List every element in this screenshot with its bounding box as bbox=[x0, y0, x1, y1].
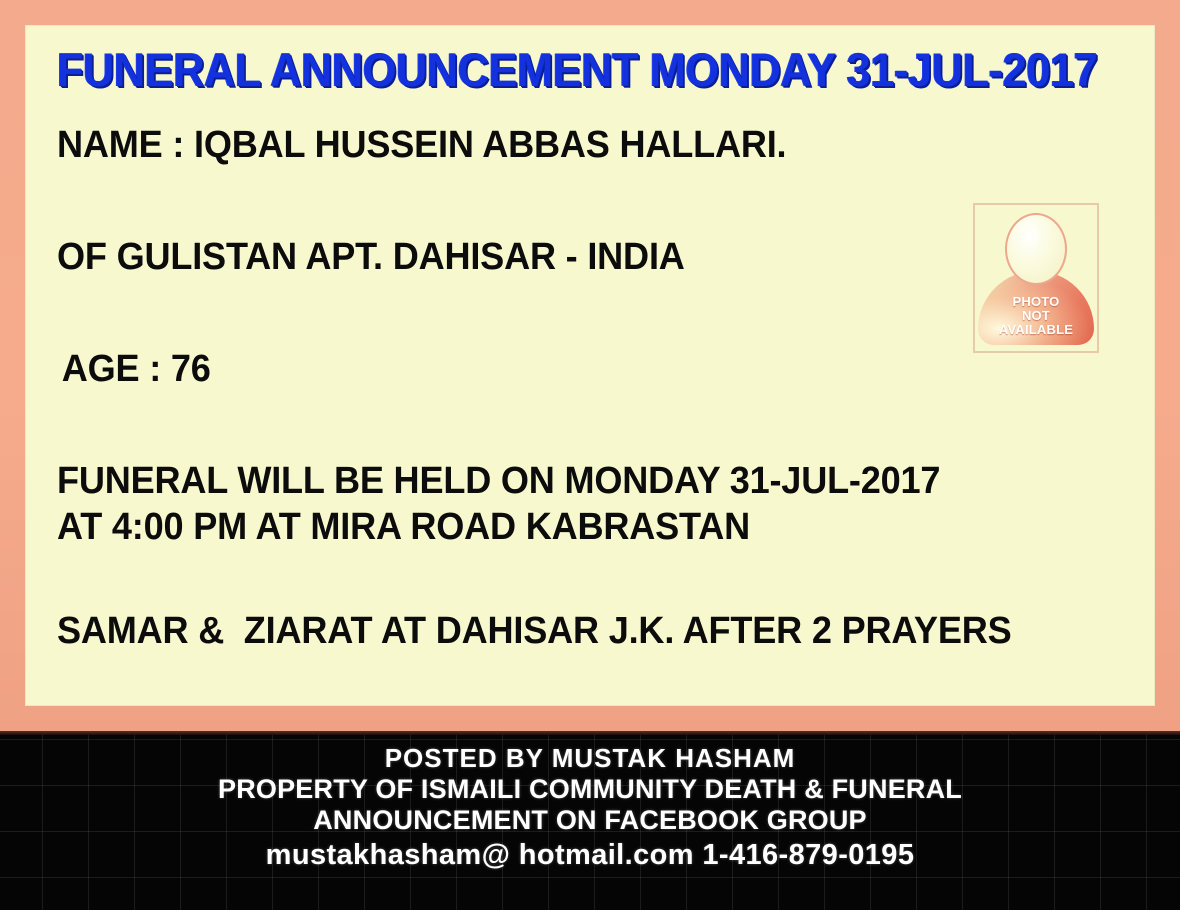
footer-contact-line: mustakhasham@ hotmail.com 1-416-879-0195 bbox=[0, 840, 1180, 871]
funeral-details-line-1: FUNERAL WILL BE HELD ON MONDAY 31-JUL-20… bbox=[57, 458, 1064, 504]
photo-placeholder-label-line-1: PHOTO bbox=[975, 295, 1097, 309]
funeral-details-line-2: AT 4:00 PM AT MIRA ROAD KABRASTAN bbox=[57, 504, 1064, 550]
announcement-body: NAME : IQBAL HUSSEIN ABBAS HALLARI. OF G… bbox=[57, 122, 1117, 654]
photo-not-available-box: PHOTO NOT AVAILABLE bbox=[973, 203, 1099, 353]
poster-outer-frame: FUNERAL ANNOUNCEMENT MONDAY 31-JUL-2017 … bbox=[0, 0, 1180, 731]
poster-footer: POSTED BY MUSTAK HASHAM PROPERTY OF ISMA… bbox=[0, 731, 1180, 910]
footer-property-line: PROPERTY OF ISMAILI COMMUNITY DEATH & FU… bbox=[0, 774, 1180, 805]
samar-ziarat-line: SAMAR & ZIARAT AT DAHISAR J.K. AFTER 2 P… bbox=[57, 608, 1064, 654]
photo-placeholder-label-line-2: NOT bbox=[975, 309, 1097, 323]
spacer-after-name bbox=[57, 168, 1117, 234]
footer-group-line: ANNOUNCEMENT ON FACEBOOK GROUP bbox=[0, 805, 1180, 836]
funeral-announcement-poster: FUNERAL ANNOUNCEMENT MONDAY 31-JUL-2017 … bbox=[0, 0, 1180, 910]
footer-posted-by: POSTED BY MUSTAK HASHAM bbox=[0, 743, 1180, 774]
spacer-after-funeral-details bbox=[57, 550, 1117, 608]
deceased-age-line: AGE : 76 bbox=[57, 346, 1064, 392]
footer-credit-block: POSTED BY MUSTAK HASHAM PROPERTY OF ISMA… bbox=[0, 743, 1180, 871]
spacer-after-age bbox=[57, 392, 1117, 458]
person-head-icon bbox=[1005, 213, 1067, 285]
announcement-panel: FUNERAL ANNOUNCEMENT MONDAY 31-JUL-2017 … bbox=[26, 26, 1154, 705]
deceased-name-line: NAME : IQBAL HUSSEIN ABBAS HALLARI. bbox=[57, 122, 1064, 168]
photo-placeholder-label: PHOTO NOT AVAILABLE bbox=[975, 295, 1097, 337]
spacer-after-address bbox=[57, 280, 1117, 346]
page-title: FUNERAL ANNOUNCEMENT MONDAY 31-JUL-2017 bbox=[57, 42, 1041, 98]
deceased-address-line: OF GULISTAN APT. DAHISAR - INDIA bbox=[57, 234, 1064, 280]
photo-placeholder-icon: PHOTO NOT AVAILABLE bbox=[975, 205, 1097, 351]
photo-placeholder-label-line-3: AVAILABLE bbox=[975, 323, 1097, 337]
